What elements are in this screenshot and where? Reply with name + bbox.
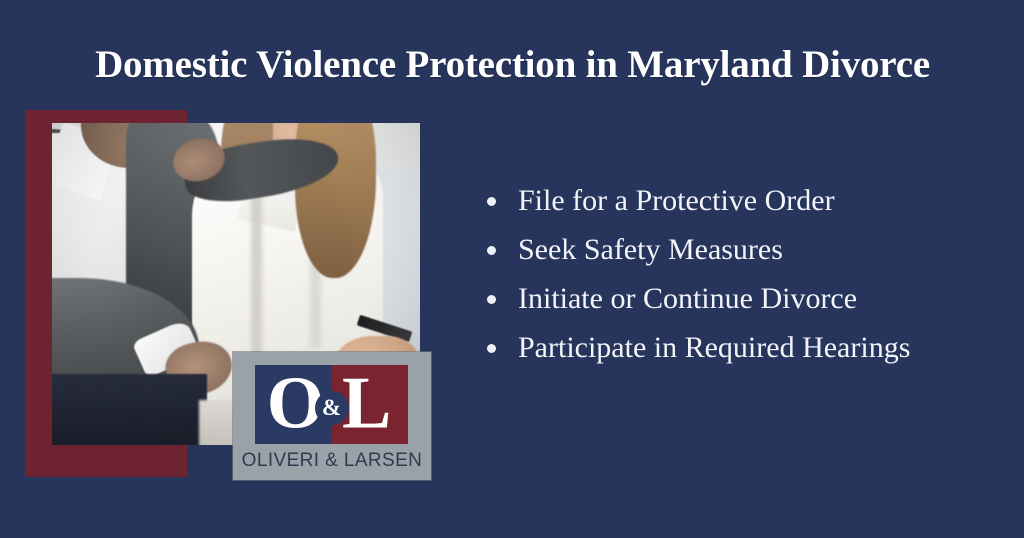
list-item-label: File for a Protective Order (518, 184, 835, 217)
list-item-label: Initiate or Continue Divorce (518, 282, 857, 315)
list-item: Initiate or Continue Divorce (478, 274, 1008, 323)
list-item: Seek Safety Measures (478, 225, 1008, 274)
bullet-dot-icon (487, 246, 496, 255)
logo-letter-l: L (342, 366, 391, 440)
image-block: O L & OLIVERI & LARSEN (0, 0, 460, 538)
law-firm-logo: O L & OLIVERI & LARSEN (233, 352, 431, 480)
bullet-dot-icon (487, 344, 496, 353)
logo-ampersand: & (322, 396, 341, 419)
logo-mark: O L & (255, 365, 408, 444)
list-item-label: Seek Safety Measures (518, 233, 783, 266)
list-item: Participate in Required Hearings (478, 323, 1008, 372)
bullet-dot-icon (487, 295, 496, 304)
logo-ampersand-circle: & (315, 391, 349, 425)
list-item: File for a Protective Order (478, 176, 1008, 225)
bullet-dot-icon (487, 197, 496, 206)
key-points-list: File for a Protective Order Seek Safety … (478, 176, 1008, 372)
slide-canvas: Domestic Violence Protection in Maryland… (0, 0, 1024, 538)
list-item-label: Participate in Required Hearings (518, 331, 910, 364)
logo-firm-name: OLIVERI & LARSEN (233, 450, 431, 472)
